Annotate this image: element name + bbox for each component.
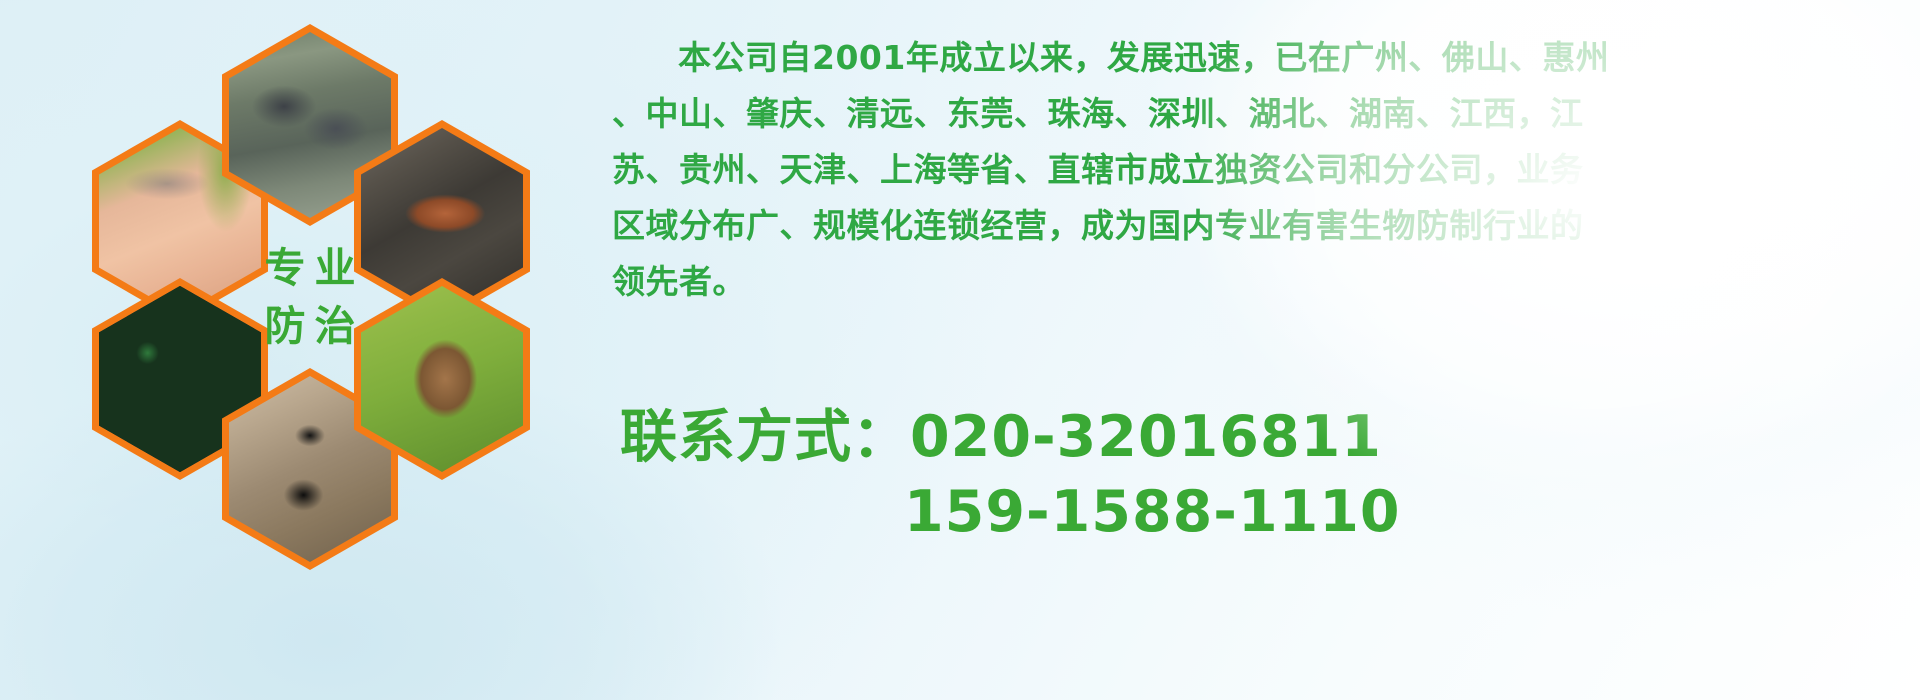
description-line-4: 区域分布广、规模化连锁经营，成为国内专业有害生物防制行业的	[612, 198, 1902, 254]
promo-banner: 专业 防治 本公司自2001年成立以来，发展迅速，已在广州、佛山、惠州 、中山、…	[0, 0, 1920, 700]
company-description: 本公司自2001年成立以来，发展迅速，已在广州、佛山、惠州 、中山、肇庆、清远、…	[612, 30, 1902, 310]
contact-line-primary[interactable]: 联系方式：020-32016811	[620, 400, 1900, 475]
description-line-2: 、中山、肇庆、清远、东莞、珠海、深圳、湖北、湖南、江西，江	[612, 86, 1902, 142]
copy-column: 本公司自2001年成立以来，发展迅速，已在广州、佛山、惠州 、中山、肇庆、清远、…	[612, 30, 1902, 310]
contact-line-secondary[interactable]: 159-1588-1110	[620, 475, 1900, 550]
slogan-line-2: 防治	[256, 297, 365, 355]
contact-block: 联系方式：020-32016811 159-1588-1110	[620, 400, 1900, 550]
honeycomb-collage: 专业 防治	[82, 10, 592, 570]
description-line-3: 苏、贵州、天津、上海等省、直辖市成立独资公司和分公司，业务	[612, 142, 1902, 198]
description-line-1: 本公司自2001年成立以来，发展迅速，已在广州、佛山、惠州	[612, 30, 1902, 86]
slogan-line-1: 专业	[256, 239, 365, 297]
description-line-5: 领先者。	[612, 254, 1902, 310]
hex-inner-center: 专业 防治	[229, 204, 391, 390]
